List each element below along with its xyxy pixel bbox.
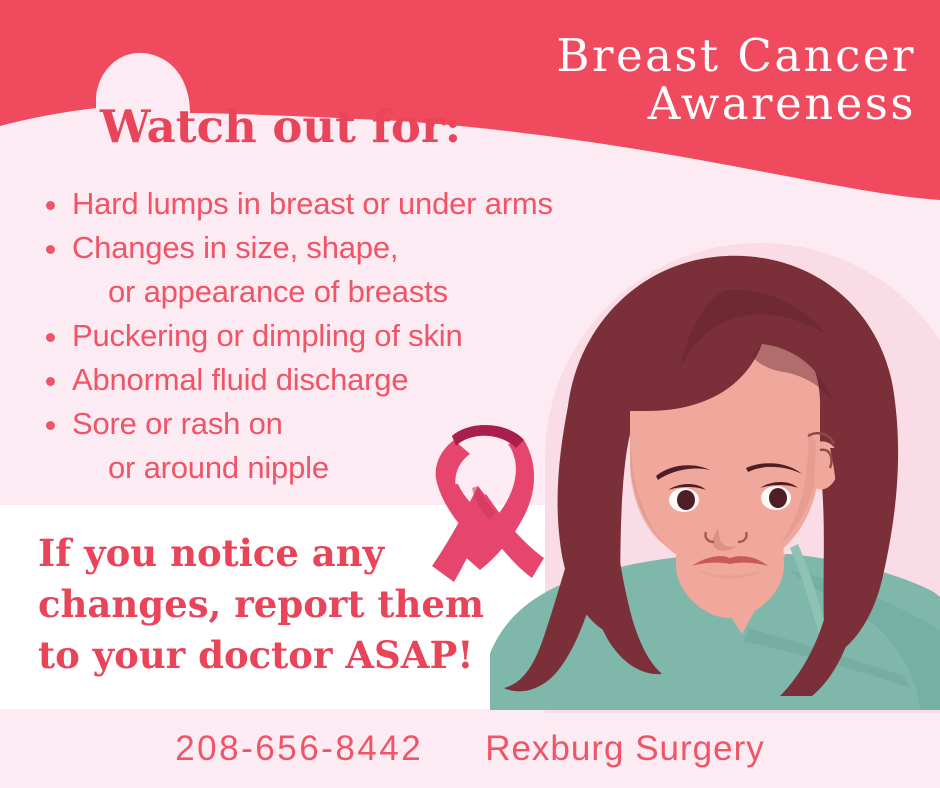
- call-to-action-text: If you notice any changes, report them t…: [38, 528, 484, 681]
- page-title: Breast Cancer Awareness: [556, 32, 916, 127]
- footer: 208-656-8442 Rexburg Surgery: [0, 709, 940, 788]
- bullet-row: Puckering or dimpling of skin: [40, 314, 660, 358]
- bullet-dot-icon: [46, 245, 55, 254]
- bullet-dot-icon: [46, 201, 55, 210]
- bullet-text: Abnormal fluid discharge: [72, 362, 408, 397]
- bullet-text: Hard lumps in breast or under arms: [72, 186, 553, 221]
- cta-line-1: If you notice any: [38, 528, 484, 579]
- poster-canvas: Breast Cancer Awareness Watch out for: H…: [0, 0, 940, 788]
- pink-awareness-ribbon-icon: [424, 414, 554, 589]
- list-item: Sore or rash on or around nipple: [40, 402, 660, 490]
- footer-organization-name: Rexburg Surgery: [485, 729, 765, 769]
- list-item: Abnormal fluid discharge: [40, 358, 660, 402]
- section-heading: Watch out for:: [100, 104, 461, 149]
- bullet-text: Sore or rash on: [72, 406, 283, 441]
- bullet-row: Abnormal fluid discharge: [40, 358, 660, 402]
- list-item: Hard lumps in breast or under arms: [40, 182, 660, 226]
- list-item: Changes in size, shape, or appearance of…: [40, 226, 660, 314]
- bullet-row: Sore or rash on: [40, 402, 660, 446]
- bullet-dot-icon: [46, 377, 55, 386]
- symptom-list: Hard lumps in breast or under arms Chang…: [40, 182, 660, 490]
- bullet-text: Changes in size, shape,: [72, 230, 398, 265]
- bullet-continuation: or appearance of breasts: [40, 270, 660, 314]
- cta-line-3: to your doctor ASAP!: [38, 630, 484, 681]
- footer-phone-number[interactable]: 208-656-8442: [175, 729, 423, 769]
- bullet-row: Changes in size, shape,: [40, 226, 660, 270]
- list-item: Puckering or dimpling of skin: [40, 314, 660, 358]
- bullet-continuation: or around nipple: [40, 446, 660, 490]
- bullet-row: Hard lumps in breast or under arms: [40, 182, 660, 226]
- title-line-2: Awareness: [556, 80, 916, 128]
- title-line-1: Breast Cancer: [556, 32, 916, 80]
- bullet-text: Puckering or dimpling of skin: [72, 318, 463, 353]
- bullet-dot-icon: [46, 421, 55, 430]
- bullet-dot-icon: [46, 333, 55, 342]
- cta-line-2: changes, report them: [38, 579, 484, 630]
